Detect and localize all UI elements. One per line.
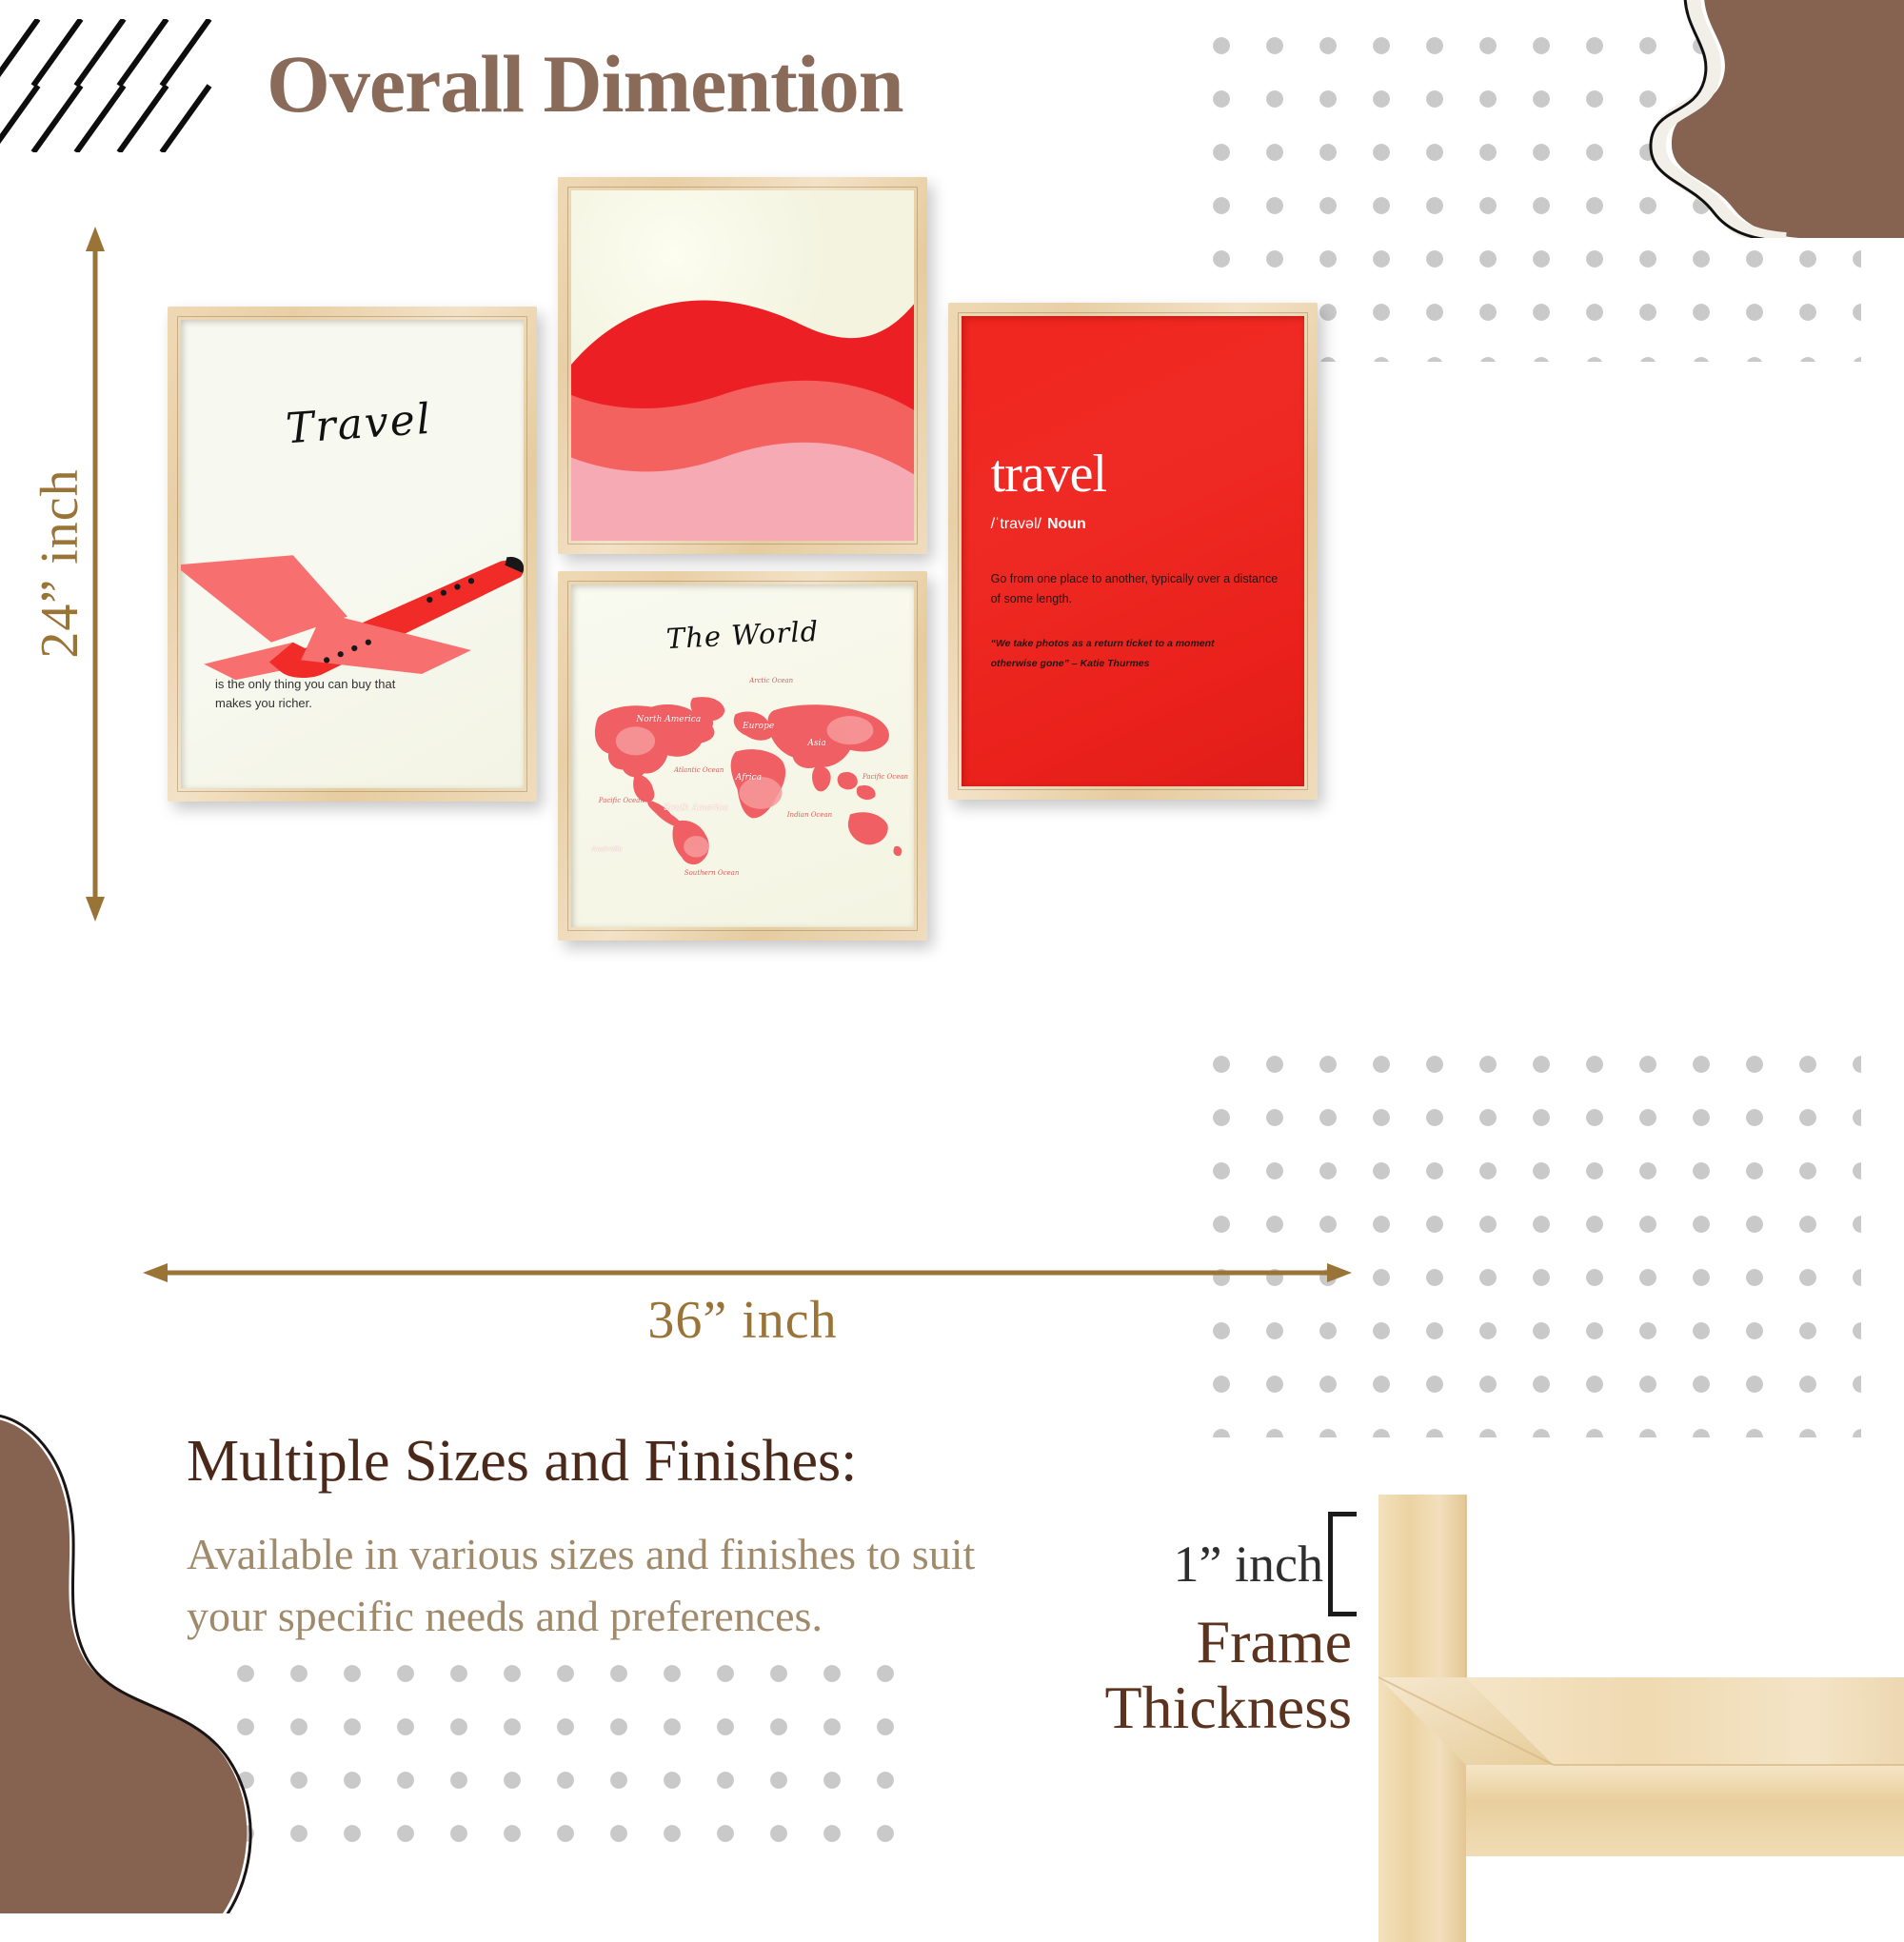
frame-thickness-label-line1: Frame <box>1105 1609 1353 1674</box>
map-label-pacific-ocean-right: Pacific Ocean <box>863 773 908 781</box>
poster-world-map: The World <box>571 585 914 927</box>
definition-pronunciation-row: /ˈtravəl/Noun <box>991 516 1284 533</box>
definition-quote-line2: otherwise gone” – Katie Thurmes <box>991 654 1284 675</box>
blob-decoration-top-right <box>1590 0 1904 238</box>
frame-world-map[interactable]: The World <box>558 571 927 941</box>
frame-thickness-label-line2: Thickness <box>1105 1674 1353 1740</box>
map-label-asia: Asia <box>807 739 825 748</box>
frame-travel-plane[interactable]: Travel is <box>168 307 537 802</box>
map-label-atlantic-ocean: Atlantic Ocean <box>674 766 724 774</box>
frame-thickness-measure: 1” inch <box>1174 1535 1323 1594</box>
frame-travel-definition[interactable]: travel /ˈtravəl/Noun Go from one place t… <box>948 303 1318 800</box>
map-label-europe: Europe <box>743 722 774 731</box>
poster-travel-plane: Travel is <box>181 320 524 788</box>
definition-body: Go from one place to another, typically … <box>991 569 1284 608</box>
definition-quote-line1: “We take photos as a return ticket to a … <box>991 634 1284 655</box>
poster-travel-definition: travel /ˈtravəl/Noun Go from one place t… <box>962 316 1304 786</box>
poster-plane-caption-line2: makes you richer. <box>215 694 455 713</box>
poster-abstract-waves <box>571 190 914 541</box>
map-label-southern-ocean: Southern Ocean <box>684 869 740 877</box>
dot-pattern-middle-right <box>1195 1038 1861 1437</box>
map-label-pacific-ocean-left: Pacific Ocean <box>599 797 645 804</box>
map-label-australia-left: Australia <box>592 845 623 853</box>
diagonal-hatch-decoration <box>0 19 219 152</box>
map-label-arctic-ocean: Arctic Ocean <box>749 677 793 684</box>
width-dimension-arrow <box>143 1252 1352 1294</box>
page-title: Overall Dimention <box>267 36 903 131</box>
map-label-indian-ocean: Indian Ocean <box>787 811 832 819</box>
frame-corner-sample <box>1352 1495 1904 1942</box>
features-body: Available in various sizes and finishes … <box>187 1523 1234 1648</box>
poster-plane-caption: is the only thing you can buy that makes… <box>215 675 455 713</box>
infographic-canvas: Overall Dimention Travel <box>0 0 1904 1904</box>
definition-word: travel <box>991 447 1284 501</box>
abstract-waves-illustration <box>571 190 914 541</box>
frame-thickness-label: Frame Thickness <box>1105 1609 1353 1740</box>
features-body-line2: your specific needs and preferences. <box>187 1585 1234 1647</box>
height-dimension-label: 24” inch <box>30 454 90 673</box>
definition-pronunciation: /ˈtravəl/ <box>991 516 1041 532</box>
width-dimension-label: 36” inch <box>0 1290 1485 1351</box>
definition-part-of-speech: Noun <box>1047 516 1086 532</box>
dot-pattern-bottom-left <box>219 1647 904 1866</box>
poster-map-script-title: The World <box>665 615 820 655</box>
map-label-north-america: North America <box>636 715 682 724</box>
features-heading: Multiple Sizes and Finishes: <box>187 1428 857 1496</box>
poster-plane-caption-line1: is the only thing you can buy that <box>215 675 455 694</box>
features-body-line1: Available in various sizes and finishes … <box>187 1523 1234 1585</box>
map-label-africa: Africa <box>736 773 762 783</box>
definition-quote: “We take photos as a return ticket to a … <box>991 634 1284 675</box>
frame-abstract-waves[interactable] <box>558 177 927 554</box>
poster-plane-script-title: Travel <box>285 394 434 453</box>
map-label-south-america: South America <box>664 803 702 813</box>
